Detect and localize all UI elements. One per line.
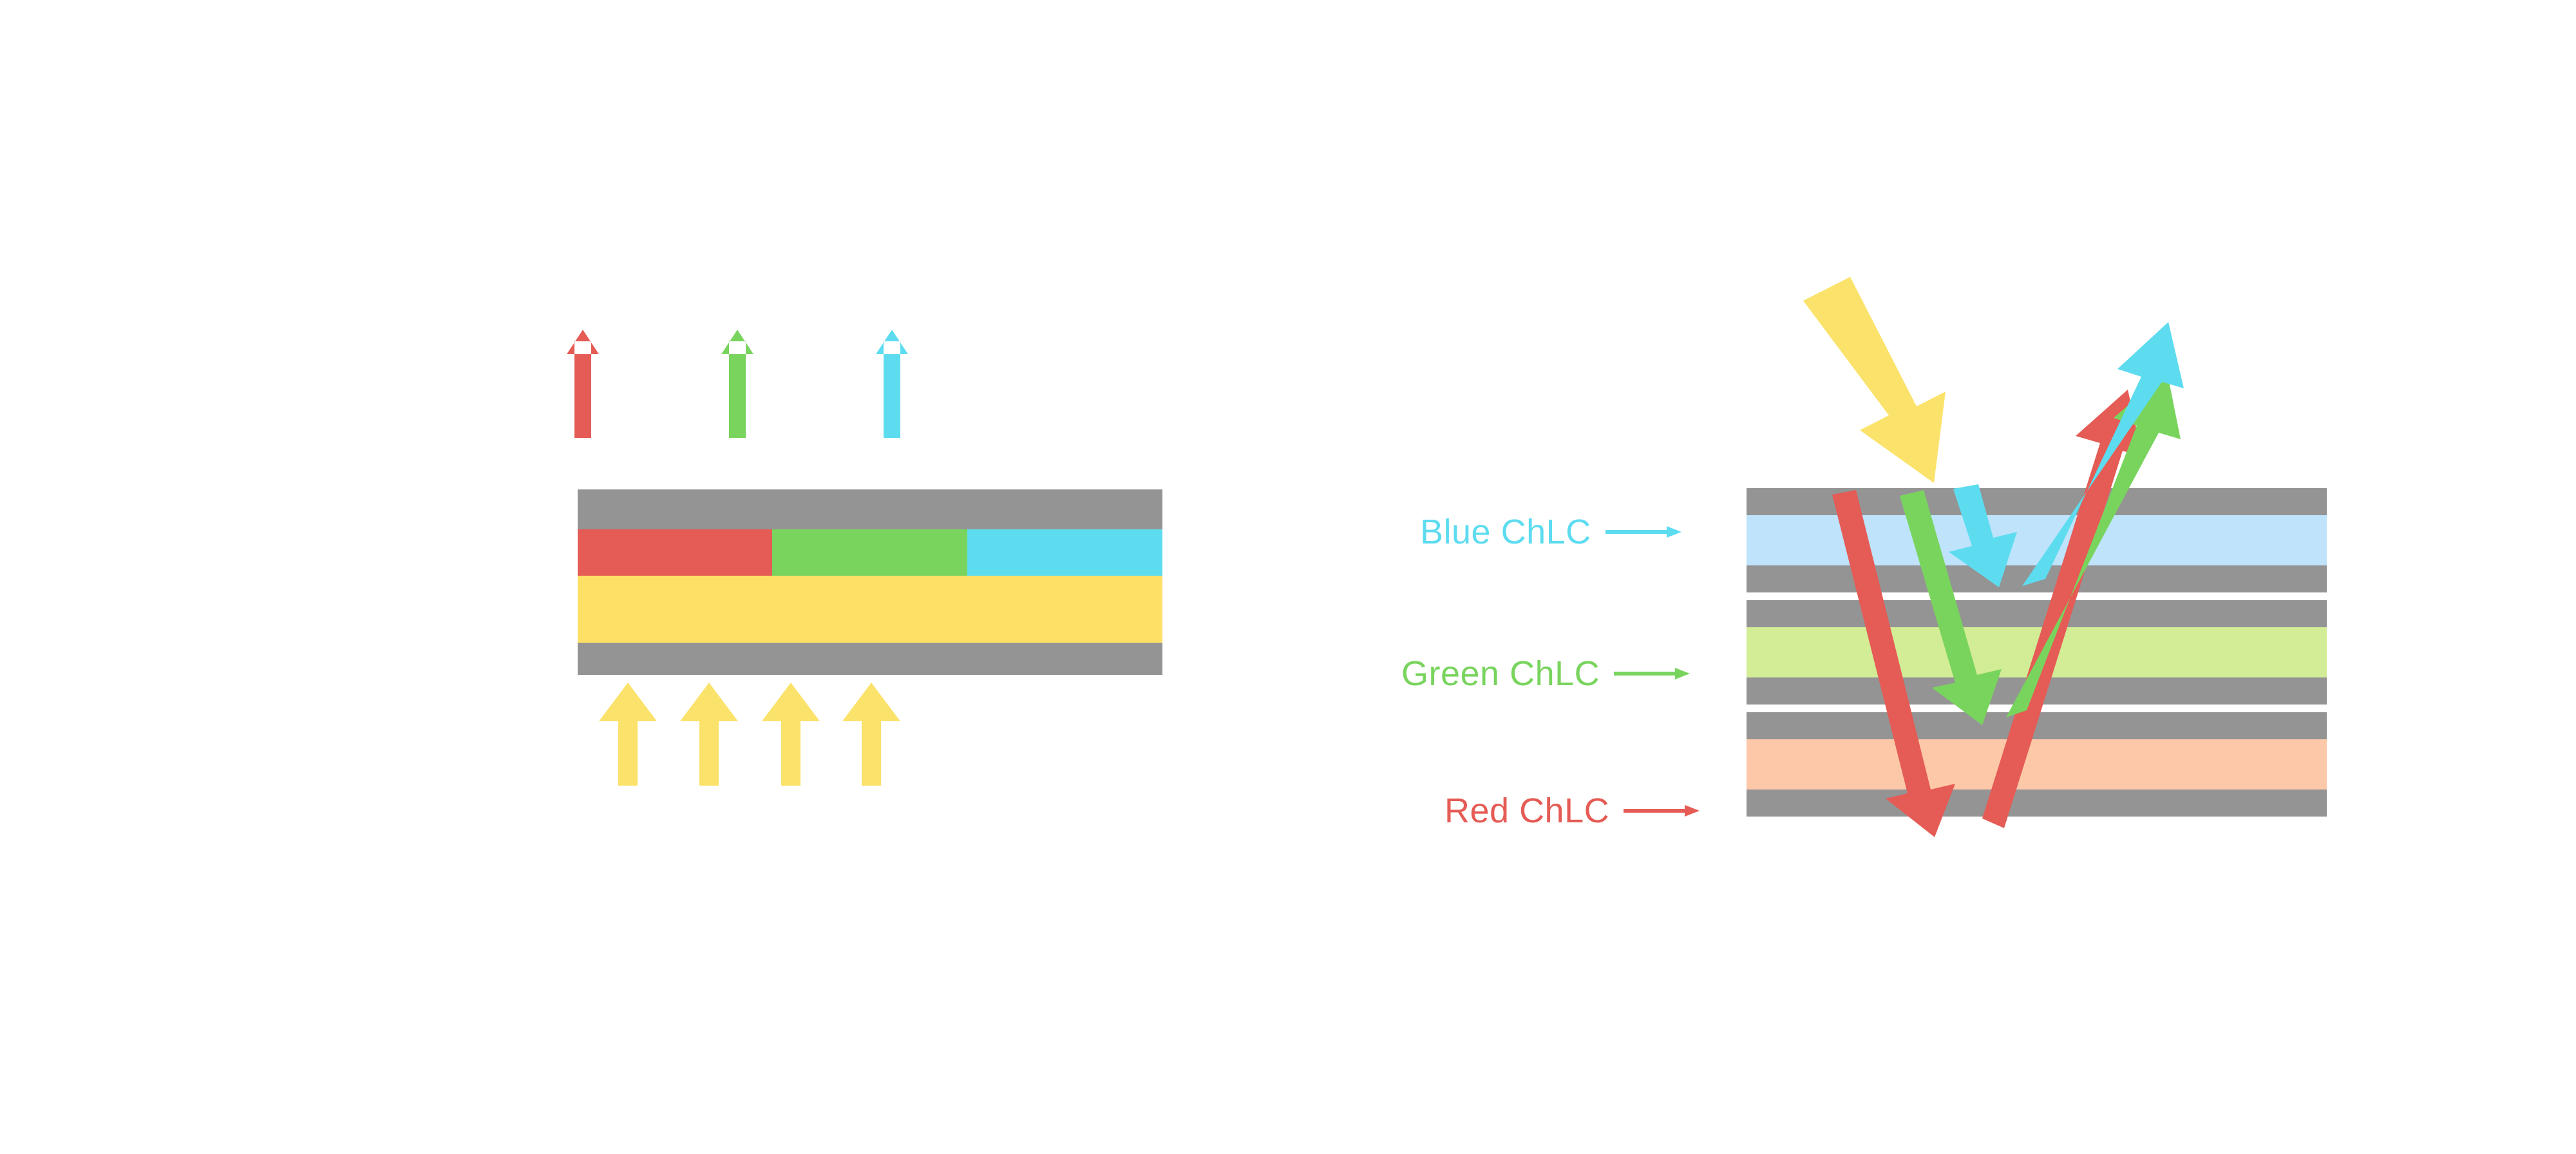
figure-canvas: Blue ChLC Green ChLC Red ChLC [0,0,2576,1154]
left-panel [541,322,1224,811]
label-green-chlc-text: Green ChLC [1401,654,1600,694]
left-panel-svg [541,322,1224,811]
green-output-arrow [721,330,753,438]
red-filter [578,529,772,576]
label-green-chlc-arrow-icon [1614,665,1691,682]
incident-white-light-arrow [1803,277,1946,483]
backlight-arrow-3 [762,683,820,786]
bottom-electrode [578,643,1162,675]
yellow-backlight-arrows [599,683,900,786]
yellow-emissive-layer [578,576,1162,643]
green-filter [772,529,967,576]
label-red-chlc-arrow-icon [1624,802,1701,819]
label-blue-chlc-text: Blue ChLC [1420,512,1591,552]
blue-filter [967,529,1162,576]
blue-lc-layer [1747,515,2327,565]
red-chlc-cell [1747,712,2327,817]
right-panel-svg [1713,270,2357,850]
label-red-chlc-text: Red ChLC [1444,791,1609,831]
backlight-arrow-2 [680,683,738,786]
backlight-arrow-1 [599,683,657,786]
top-electrode [578,489,1162,529]
label-red-chlc: Red ChLC [1444,791,1701,831]
red-lc-layer [1747,739,2327,790]
red-cell-bottom-substrate [1747,790,2327,817]
red-output-arrow [567,330,599,438]
blue-output-arrow [876,330,908,438]
blue-cell-top-substrate [1747,488,2327,515]
backlight-arrow-4 [842,683,900,786]
label-blue-chlc-arrow-icon [1605,524,1683,540]
green-cell-top-substrate [1747,600,2327,627]
right-panel [1713,270,2357,850]
label-blue-chlc: Blue ChLC [1420,512,1683,552]
label-green-chlc: Green ChLC [1401,654,1691,694]
